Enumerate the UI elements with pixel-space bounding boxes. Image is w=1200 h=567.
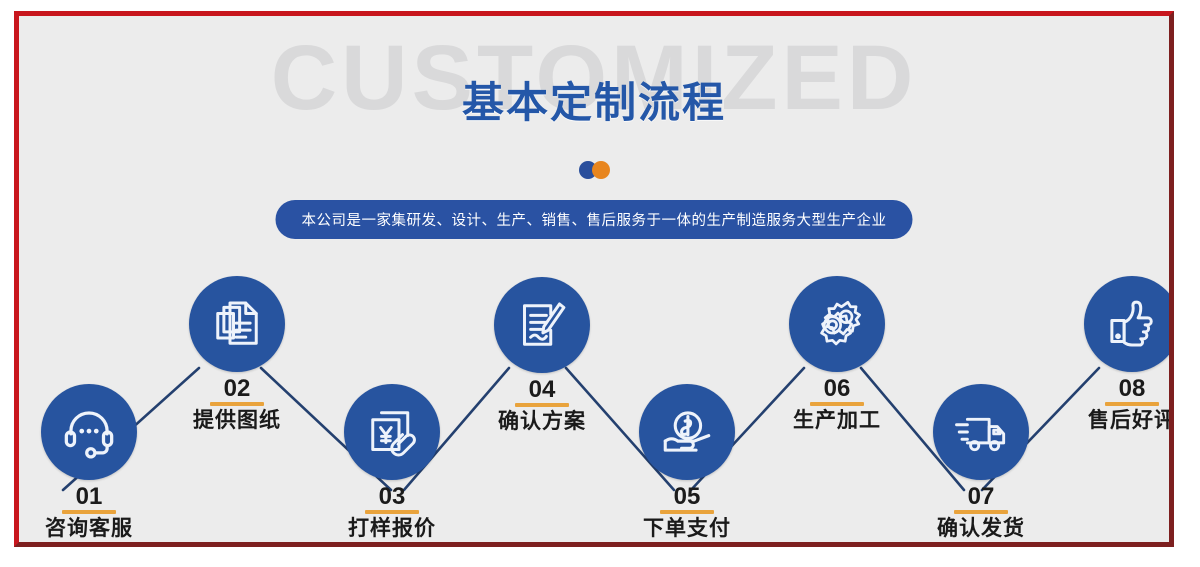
step-08-number: 08 <box>1052 376 1169 401</box>
step-04-label: 确认方案 <box>462 410 622 433</box>
yen-paperclip-icon <box>364 404 420 460</box>
step-02-number: 02 <box>157 376 317 401</box>
poster-red-frame: CUSTOMIZED 基本定制流程 本公司是一家集研发、设计、生产、销售、售后服… <box>14 11 1174 547</box>
step-05-label: 下单支付 <box>607 517 767 540</box>
step-05-bubble[interactable] <box>639 384 735 480</box>
step-01-bubble[interactable] <box>41 384 137 480</box>
truck-icon <box>952 403 1010 461</box>
process-step-03[interactable]: 03 打样报价 <box>312 384 472 540</box>
contract-pen-icon <box>514 297 570 353</box>
step-03-bubble[interactable] <box>344 384 440 480</box>
step-04-bubble[interactable] <box>494 277 590 373</box>
process-step-06[interactable]: 06 生产加工 <box>757 276 917 432</box>
step-04-underline <box>515 403 569 407</box>
step-03-number: 03 <box>312 484 472 509</box>
customization-process-poster: CUSTOMIZED 基本定制流程 本公司是一家集研发、设计、生产、销售、售后服… <box>0 0 1200 567</box>
step-06-number: 06 <box>757 376 917 401</box>
step-01-underline <box>62 510 116 514</box>
step-06-bubble[interactable] <box>789 276 885 372</box>
step-02-bubble[interactable] <box>189 276 285 372</box>
process-step-05[interactable]: 05 下单支付 <box>607 384 767 540</box>
step-07-underline <box>954 510 1008 514</box>
step-05-number: 05 <box>607 484 767 509</box>
step-02-label: 提供图纸 <box>157 409 317 432</box>
decor-dot-orange <box>592 161 610 179</box>
step-07-bubble[interactable] <box>933 384 1029 480</box>
documents-icon <box>209 296 265 352</box>
step-01-number: 01 <box>19 484 169 509</box>
poster-inner-canvas: CUSTOMIZED 基本定制流程 本公司是一家集研发、设计、生产、销售、售后服… <box>19 16 1169 542</box>
step-08-bubble[interactable] <box>1084 276 1169 372</box>
step-08-underline <box>1105 402 1159 406</box>
process-step-07[interactable]: 07 确认发货 <box>901 384 1061 540</box>
process-step-08[interactable]: 08 售后好评 <box>1052 276 1169 432</box>
decorative-dots <box>19 160 1169 180</box>
step-07-number: 07 <box>901 484 1061 509</box>
page-title: 基本定制流程 <box>19 82 1169 124</box>
step-03-label: 打样报价 <box>312 517 472 540</box>
step-06-label: 生产加工 <box>757 409 917 432</box>
step-02-underline <box>210 402 264 406</box>
step-06-underline <box>810 402 864 406</box>
step-04-number: 04 <box>462 377 622 402</box>
step-08-label: 售后好评 <box>1052 409 1169 432</box>
step-05-underline <box>660 510 714 514</box>
step-03-underline <box>365 510 419 514</box>
process-step-04[interactable]: 04 确认方案 <box>462 277 622 433</box>
headset-icon <box>60 403 118 461</box>
step-07-label: 确认发货 <box>901 517 1061 540</box>
hand-coin-icon <box>658 403 716 461</box>
company-subtitle-pill: 本公司是一家集研发、设计、生产、销售、售后服务于一体的生产制造服务大型生产企业 <box>276 200 913 239</box>
gears-icon <box>808 295 866 353</box>
thumbs-up-icon <box>1104 296 1160 352</box>
step-01-label: 咨询客服 <box>19 517 169 540</box>
process-step-01[interactable]: 01 咨询客服 <box>19 384 169 540</box>
process-step-02[interactable]: 02 提供图纸 <box>157 276 317 432</box>
